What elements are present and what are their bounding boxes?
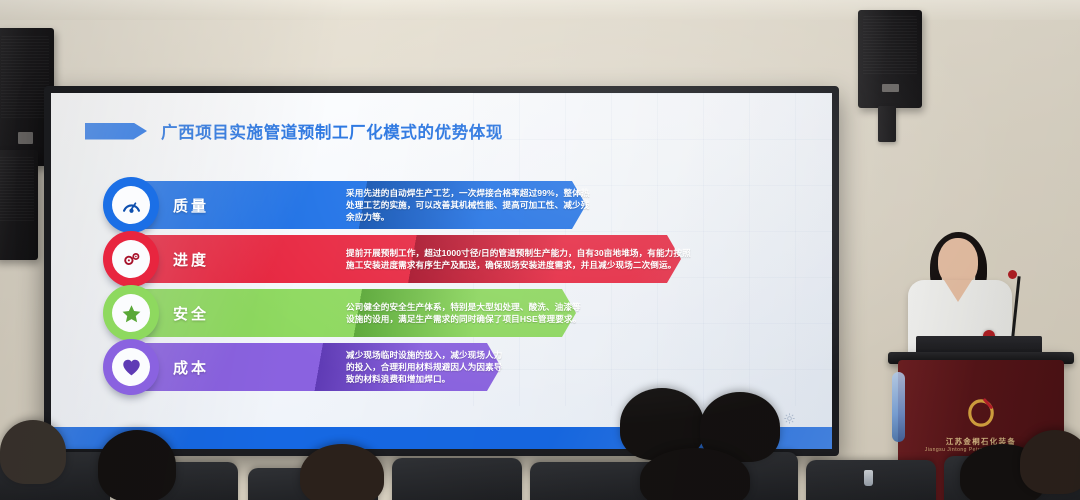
water-bottle [864,470,873,486]
advantage-icon-badge [103,177,159,233]
advantage-icon-badge [103,231,159,287]
advantage-row: 安全公司健全的安全生产体系，特别是大型如处理、酸洗、油漆等设施的设用，满足生产需… [51,287,832,339]
heart-icon [112,348,150,386]
page-title: 广西项目实施管道预制工厂化模式的优势体现 [161,119,503,143]
audience-head [98,430,176,500]
gears-icon [112,240,150,278]
podium-logo [898,398,1064,428]
advantage-icon-badge [103,285,159,341]
presenter-head [938,238,978,286]
speaker-badge [882,84,899,93]
advantage-rows: 质量采用先进的自动焊生产工艺，一次焊接合格率超过99%，整体热处理工艺的实施，可… [51,179,832,395]
advantage-icon-badge [103,339,159,395]
audience-head [1020,430,1080,494]
advantage-label: 安全 [173,303,209,324]
speaker-grille-icon [0,157,34,223]
advantage-row: 进度提前开展预制工作，超过1000寸径/日的管道预制生产能力，自有30亩地堆场，… [51,233,832,285]
speaker-badge [18,132,33,144]
advantage-label: 质量 [173,195,209,216]
title-arrow-icon [85,123,147,140]
microphone-icon [1008,270,1017,279]
slide-title-row: 广西项目实施管道预制工厂化模式的优势体现 [85,119,503,143]
wall-speaker-left-lower [0,150,38,260]
advantage-description: 公司健全的安全生产体系，特别是大型如处理、酸洗、油漆等设施的设用，满足生产需求的… [346,301,586,325]
slide-canvas: 广西项目实施管道预制工厂化模式的优势体现 质量采用先进的自动焊生产工艺，一次焊接… [51,93,832,449]
conference-room-photo: 广西项目实施管道预制工厂化模式的优势体现 质量采用先进的自动焊生产工艺，一次焊接… [0,0,1080,500]
advantage-description: 减少现场临时设施的投入，减少现场人力的投入，合理利用材料规避因人为因素导致的材料… [346,349,511,386]
speaker-grille-icon [863,16,917,75]
ring-logo-icon [967,398,995,428]
advantage-description: 采用先进的自动焊生产工艺，一次焊接合格率超过99%，整体热处理工艺的实施，可以改… [346,187,596,224]
wall-speaker-right [858,10,922,108]
advantage-description: 提前开展预制工作，超过1000寸径/日的管道预制生产能力，自有30亩地堆场，有能… [346,247,691,271]
advantage-row: 质量采用先进的自动焊生产工艺，一次焊接合格率超过99%，整体热处理工艺的实施，可… [51,179,832,231]
speaker-grille-icon [1,36,50,119]
advantage-label: 成本 [173,357,209,378]
advantage-row: 成本减少现场临时设施的投入，减少现场人力的投入，合理利用材料规避因人为因素导致的… [51,341,832,393]
settings-icon [783,412,796,425]
star-icon [112,294,150,332]
speaker-mount-bracket [878,106,896,142]
advantage-label: 进度 [173,249,209,270]
seat-back [392,458,522,500]
audience-head [300,444,384,500]
gauge-icon [112,186,150,224]
audience-head [0,420,66,484]
